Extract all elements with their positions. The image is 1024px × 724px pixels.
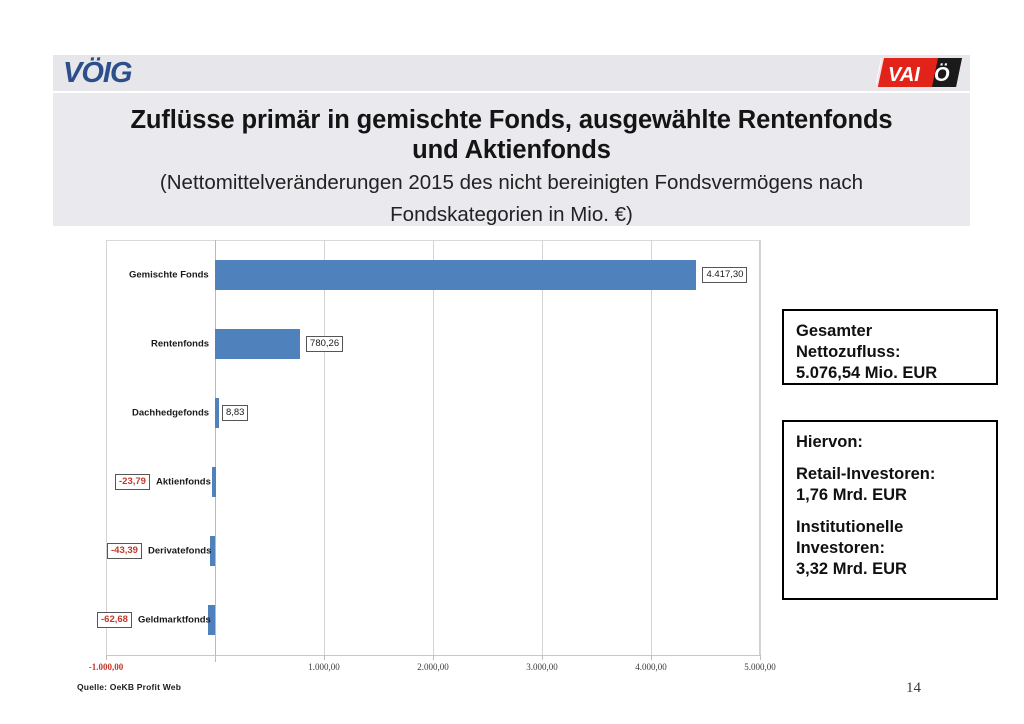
subtitle-line-2: Fondskategorien in Mio. €) (53, 197, 970, 229)
bar (215, 398, 219, 428)
subtitle-line-1: (Nettomittelveränderungen 2015 des nicht… (53, 165, 970, 197)
x-tick-label: 5.000,00 (744, 662, 776, 672)
source-note: Quelle: OeKB Profit Web (77, 682, 181, 692)
x-tick-label: -1.000,00 (89, 662, 124, 672)
bar (215, 260, 696, 290)
value-label: -62,68 (97, 612, 132, 628)
title-line-1: Zuflüsse primär in gemischte Fonds, ausg… (53, 105, 970, 135)
category-label: Gemischte Fonds (129, 269, 209, 280)
page-number: 14 (906, 680, 921, 697)
value-label: -43,39 (107, 543, 142, 559)
tick-mark (651, 655, 652, 660)
retail-investors-label: Retail-Investoren: (796, 464, 984, 485)
category-label: Derivatefonds (148, 546, 211, 557)
tick-mark (760, 655, 761, 660)
tick-mark (324, 655, 325, 660)
title-line-2: und Aktienfonds (53, 135, 970, 165)
bar-chart: -1.000,001.000,002.000,003.000,004.000,0… (68, 240, 768, 665)
x-tick-label: 1.000,00 (308, 662, 340, 672)
svg-text:Ö: Ö (934, 63, 950, 86)
svg-text:VAI: VAI (888, 64, 920, 86)
tick-mark (542, 655, 543, 660)
total-netflow-line-2: Nettozufluss: (796, 342, 984, 363)
x-tick-label: 2.000,00 (417, 662, 449, 672)
tick-mark (433, 655, 434, 660)
institutional-investors-label-2: Investoren: (796, 538, 984, 559)
category-label: Dachhedgefonds (132, 407, 209, 418)
retail-investors-value: 1,76 Mrd. EUR (796, 485, 984, 506)
gridline (542, 240, 543, 655)
tick-mark (215, 655, 216, 660)
total-netflow-box: Gesamter Nettozufluss: 5.076,54 Mio. EUR (782, 309, 998, 385)
value-label: 4.417,30 (702, 267, 747, 283)
institutional-investors-value: 3,32 Mrd. EUR (796, 559, 984, 580)
slide-title-block: Zuflüsse primär in gemischte Fonds, ausg… (53, 93, 970, 226)
header-band: VÖIG VAI Ö (53, 55, 970, 91)
category-label: Aktienfonds (156, 477, 211, 488)
investor-breakdown-box: Hiervon: Retail-Investoren: 1,76 Mrd. EU… (782, 420, 998, 600)
gridline (106, 240, 107, 655)
institutional-investors-label-1: Institutionelle (796, 517, 984, 538)
value-label: -23,79 (115, 474, 150, 490)
voig-logo: VÖIG (63, 57, 132, 89)
category-label: Rentenfonds (151, 338, 209, 349)
gridline (433, 240, 434, 655)
gridline (651, 240, 652, 655)
breakdown-heading: Hiervon: (796, 432, 984, 453)
gridline (760, 240, 761, 655)
bar (212, 467, 216, 497)
value-label: 780,26 (306, 336, 343, 352)
tick-mark (106, 655, 107, 660)
zero-axis-line (215, 240, 216, 662)
category-label: Geldmarktfonds (138, 615, 211, 626)
vaio-logo: VAI Ö (876, 58, 962, 87)
value-label: 8,83 (222, 405, 249, 421)
x-tick-label: 3.000,00 (526, 662, 558, 672)
x-tick-label: 4.000,00 (635, 662, 667, 672)
bar (215, 329, 300, 359)
gridline (324, 240, 325, 655)
total-netflow-line-1: Gesamter (796, 321, 984, 342)
spacer (796, 506, 984, 517)
total-netflow-value: 5.076,54 Mio. EUR (796, 363, 984, 384)
spacer (796, 453, 984, 464)
